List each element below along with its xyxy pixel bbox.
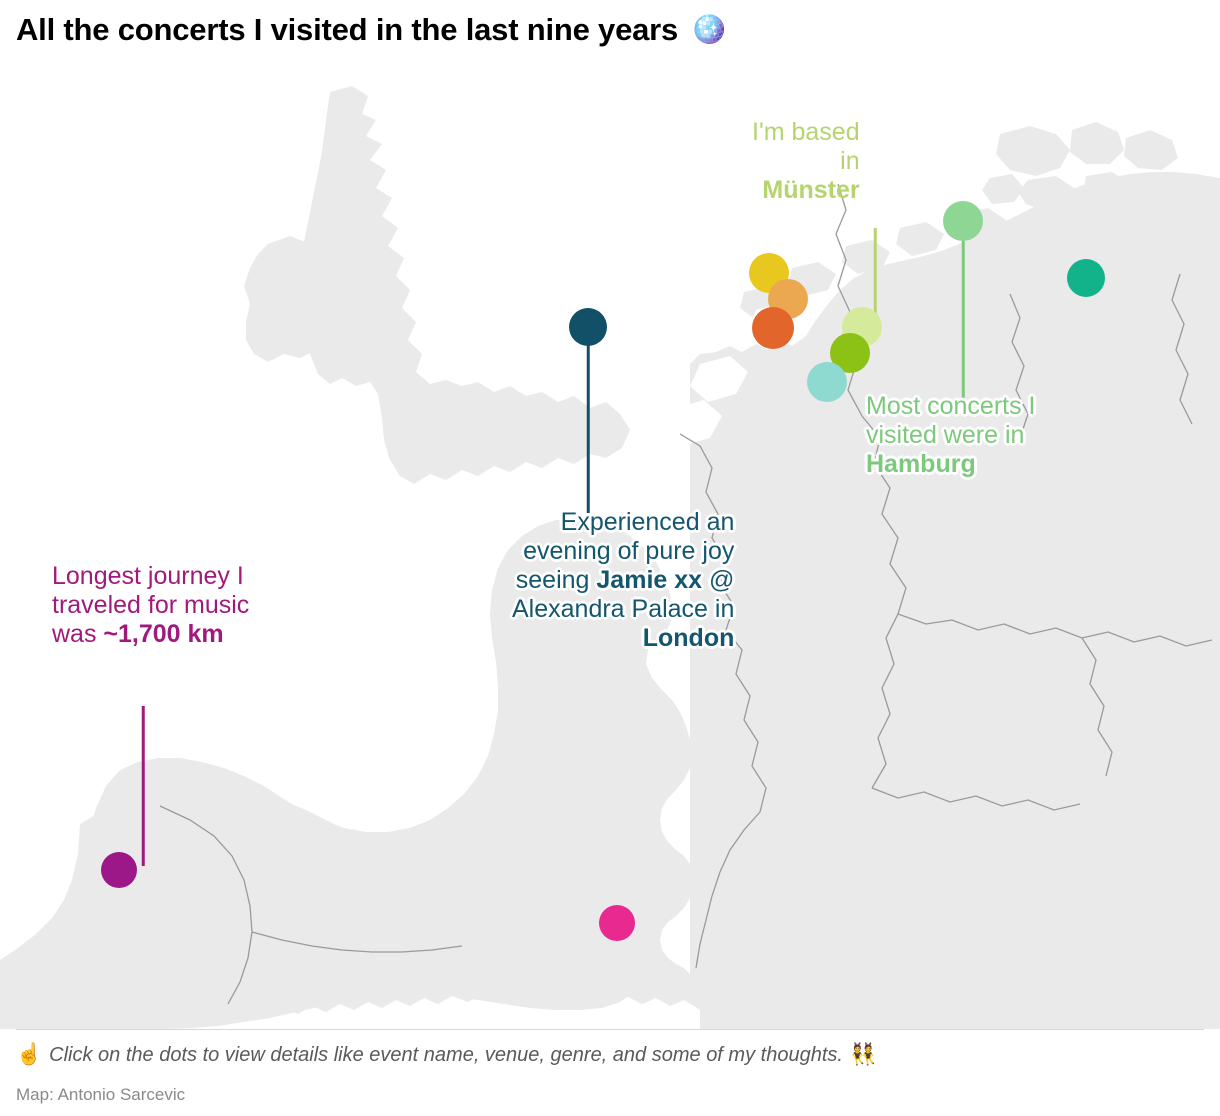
footer-hint: ☝️ Click on the dots to view details lik… — [16, 1043, 876, 1067]
footer-divider — [16, 1029, 1204, 1030]
page-title-bar: All the concerts I visited in the last n… — [16, 12, 727, 48]
concert-dot-porto[interactable] — [101, 852, 137, 888]
annotation-muenster-city: Münster — [752, 176, 860, 205]
footer-hint-text: Click on the dots to view details like e… — [49, 1044, 843, 1067]
annotation-muenster-line2: in — [752, 147, 860, 176]
annotation-london-line4: Alexandra Palace in — [512, 595, 734, 624]
pointing-up-icon: ☝️ — [16, 1043, 42, 1067]
annotation-journey-line3-pre: was — [52, 620, 103, 648]
annotation-journey-line2: traveled for music — [52, 591, 249, 620]
concert-dot-orange[interactable] — [752, 307, 794, 349]
annotation-longest-journey: Longest journey I traveled for music was… — [52, 562, 249, 649]
annotation-london-line3-post: @ — [702, 566, 734, 594]
annotation-hamburg-line2: visited were in — [866, 421, 1036, 450]
annotation-journey-line1: Longest journey I — [52, 562, 249, 591]
annotation-london-artist: Jamie xx — [596, 566, 702, 594]
concert-dot-hamburg[interactable] — [943, 201, 983, 241]
annotation-muenster-line1: I'm based — [752, 118, 860, 147]
people-with-bunny-ears-icon: 👯 — [850, 1043, 876, 1067]
annotation-london: Experienced an evening of pure joy seein… — [512, 508, 734, 653]
annotation-london-line2: evening of pure joy — [512, 537, 734, 566]
footer: ☝️ Click on the dots to view details lik… — [0, 1029, 1220, 1116]
annotation-london-line3-pre: seeing — [516, 566, 597, 594]
page-title: All the concerts I visited in the last n… — [16, 12, 678, 48]
annotation-journey-distance: ~1,700 km — [103, 620, 223, 648]
disco-ball-icon: 🪩 — [690, 15, 727, 45]
concert-dot-aqua[interactable] — [807, 362, 847, 402]
concert-dot-barcelona[interactable] — [599, 905, 635, 941]
annotation-london-city: London — [512, 624, 734, 653]
footer-credit: Map: Antonio Sarcevic — [16, 1085, 185, 1105]
concert-map-page: All the concerts I visited in the last n… — [0, 0, 1220, 1116]
concert-dot-berlin[interactable] — [1067, 259, 1105, 297]
annotation-journey-line3: was ~1,700 km — [52, 620, 249, 649]
annotation-london-line3: seeing Jamie xx @ — [512, 566, 734, 595]
annotation-london-line1: Experienced an — [512, 508, 734, 537]
annotation-muenster: I'm based in Münster — [752, 118, 860, 205]
annotation-hamburg-city: Hamburg — [866, 450, 1036, 479]
annotation-hamburg: Most concerts I visited were in Hamburg — [866, 392, 1036, 479]
concert-dot-london[interactable] — [569, 308, 607, 346]
annotation-hamburg-line1: Most concerts I — [866, 392, 1036, 421]
